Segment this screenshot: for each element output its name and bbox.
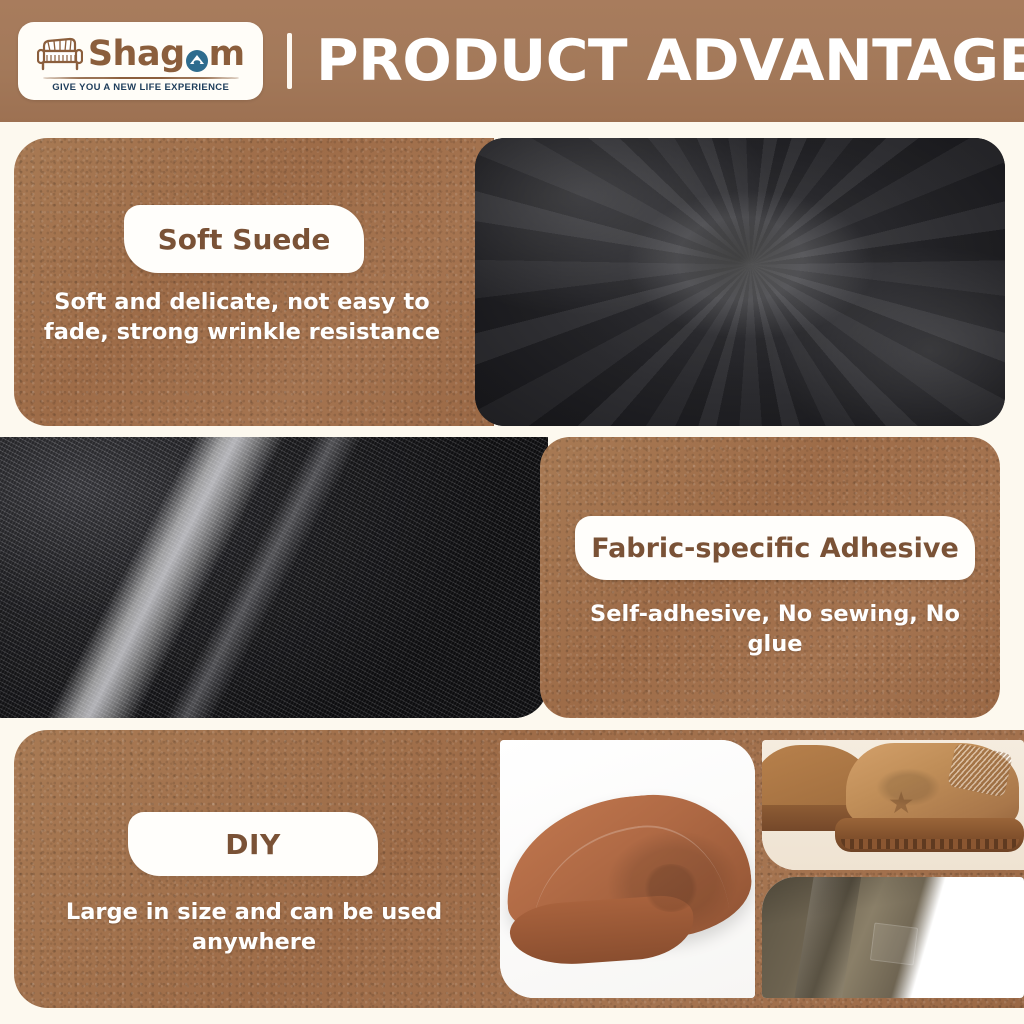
brand-name-part2: m [209,37,245,72]
sofa-icon [37,37,83,73]
brand-name-part1: Shag [88,37,185,72]
logo-diamond-o-icon [185,45,209,69]
brand-logo: Shag m GIVE YOU A NEW LIFE EXPERIENCE [18,22,263,100]
page-title: PRODUCT ADVANTAGE [316,28,1024,94]
brand-tagline: GIVE YOU A NEW LIFE EXPERIENCE [52,82,229,93]
brand-name: Shag m [88,37,245,72]
black-suede-fabric-swirl-photo [475,138,1005,426]
black-fabric-adhesive-backing-image [0,437,548,718]
feature-2-label: Fabric-specific Adhesive [591,533,959,564]
olive-suede-jacket-image [762,877,1024,998]
jacket-fold-shadow [793,877,862,998]
feature-3-label: DIY [225,828,280,861]
feature-1-description: Soft and delicate, not easy to fade, str… [22,288,462,347]
logo-wordmark-row: Shag m [37,32,245,78]
feature-2-description: Self-adhesive, No sewing, No glue [560,600,990,659]
brown-suede-flat-cap-image [500,740,755,998]
feature-1-label-pill: Soft Suede [124,205,364,273]
black-suede-fabric-swirl-image [475,138,1005,426]
black-fabric-adhesive-backing-photo [0,437,548,718]
feature-1-text-panel [14,138,494,426]
feature-1-label: Soft Suede [158,223,331,256]
feature-3-label-pill: DIY [128,812,378,876]
feature-2-label-pill: Fabric-specific Adhesive [575,516,975,580]
olive-suede-jacket-photo [762,877,1024,998]
tan-suede-boot-image: ★ [762,740,1024,870]
cap-emboss-dot [643,864,699,912]
logo-underline-rule [43,77,239,79]
feature-3-description: Large in size and can be used anywhere [22,898,486,957]
feature-card-soft-suede [14,138,1005,426]
header-banner: Shag m GIVE YOU A NEW LIFE EXPERIENCE PR… [0,0,1024,122]
boot-tread-pattern [841,839,1019,849]
boot-star-icon: ★ [888,789,915,819]
product-advantage-poster: Shag m GIVE YOU A NEW LIFE EXPERIENCE PR… [0,0,1024,1024]
jacket-patch-detail [870,923,918,966]
header-divider [287,33,292,89]
brown-suede-flat-cap-photo [500,740,755,998]
tan-suede-boot-photo: ★ [762,740,1024,870]
